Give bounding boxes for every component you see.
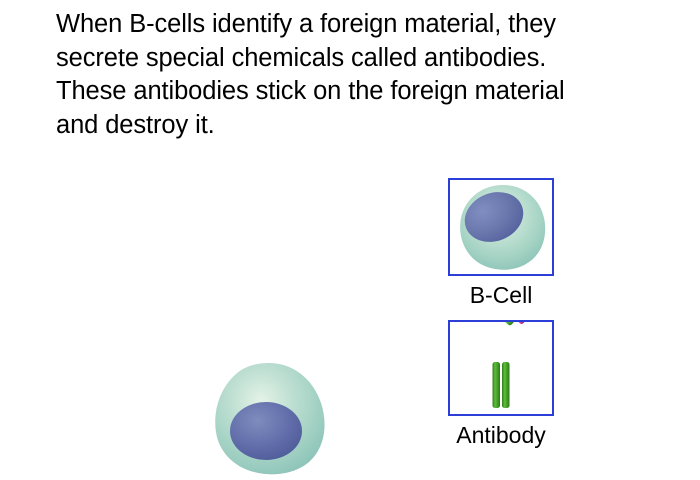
antibody-structure (450, 322, 545, 408)
large-cell-icon (205, 355, 335, 480)
heavy-chain-stem-right (502, 362, 510, 408)
narrative-line: When B-cells identify a foreign material… (56, 8, 656, 42)
narrative-line: secrete special chemicals called antibod… (56, 42, 656, 76)
nucleus-shape (230, 402, 302, 460)
legend-box-antibody[interactable] (448, 320, 554, 416)
large-cell-illustration (205, 355, 335, 480)
heavy-chain-stem-left (493, 362, 501, 408)
legend-label-b-cell: B-Cell (420, 282, 582, 308)
legend-box-b-cell[interactable] (448, 178, 554, 276)
antibody-icon (450, 322, 552, 414)
b-cell-icon (450, 180, 552, 274)
narrative-line: and destroy it. (56, 109, 656, 143)
light-chain-right (516, 322, 545, 325)
narrative-line: These antibodies stick on the foreign ma… (56, 75, 656, 109)
legend-label-antibody: Antibody (420, 422, 582, 448)
narrative-text-block: When B-cells identify a foreign material… (56, 8, 656, 142)
